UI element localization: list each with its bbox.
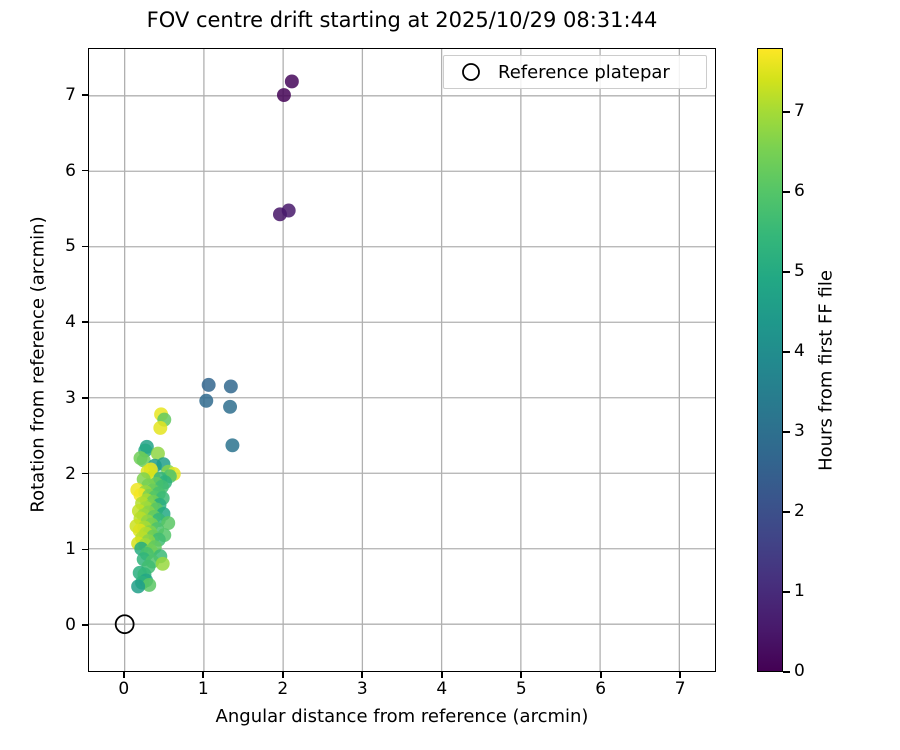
x-tick-label: 4 bbox=[422, 679, 462, 699]
x-tick-mark bbox=[361, 672, 363, 678]
scatter-point bbox=[285, 74, 299, 88]
colorbar-tick-label: 5 bbox=[794, 261, 805, 281]
chart-title: FOV centre drift starting at 2025/10/29 … bbox=[88, 8, 716, 32]
y-tick-mark bbox=[82, 170, 88, 172]
x-tick-label: 5 bbox=[501, 679, 541, 699]
scatter-point bbox=[156, 557, 170, 571]
x-tick-mark bbox=[679, 672, 681, 678]
colorbar-tick-mark bbox=[783, 271, 790, 272]
legend-entry-label: Reference platepar bbox=[498, 62, 670, 83]
x-tick-mark bbox=[202, 672, 204, 678]
x-axis-label: Angular distance from reference (arcmin) bbox=[88, 706, 716, 727]
x-tick-label: 3 bbox=[342, 679, 382, 699]
colorbar-tick-mark bbox=[783, 591, 790, 592]
x-tick-label: 2 bbox=[263, 679, 303, 699]
colorbar-tick-mark bbox=[783, 431, 790, 432]
legend-reference-marker-icon bbox=[444, 62, 498, 82]
scatter-point bbox=[282, 204, 296, 218]
colorbar-tick-label: 1 bbox=[794, 581, 805, 601]
y-tick-mark bbox=[82, 549, 88, 551]
colorbar-tick-label: 3 bbox=[794, 421, 805, 441]
x-tick-mark bbox=[600, 672, 602, 678]
colorbar-tick-label: 4 bbox=[794, 341, 805, 361]
colorbar-label: Hours from first FF file bbox=[816, 59, 837, 683]
colorbar-gradient bbox=[757, 48, 783, 672]
colorbar-tick-mark bbox=[783, 191, 790, 192]
y-tick-mark bbox=[82, 473, 88, 475]
plot-axes bbox=[88, 48, 716, 672]
legend-box[interactable]: Reference platepar bbox=[443, 55, 707, 89]
x-tick-label: 0 bbox=[104, 679, 144, 699]
colorbar-tick-mark bbox=[783, 511, 790, 512]
colorbar-tick-label: 6 bbox=[794, 181, 805, 201]
x-tick-label: 6 bbox=[581, 679, 621, 699]
colorbar-tick-mark bbox=[783, 111, 790, 112]
x-tick-label: 1 bbox=[183, 679, 223, 699]
y-axis-label: Rotation from reference (arcmin) bbox=[28, 53, 49, 677]
scatter-point bbox=[131, 579, 145, 593]
colorbar-tick-mark bbox=[783, 351, 790, 352]
colorbar-tick-label: 7 bbox=[794, 101, 805, 121]
y-tick-mark bbox=[82, 397, 88, 399]
colorbar bbox=[757, 48, 783, 672]
x-tick-label: 7 bbox=[660, 679, 700, 699]
y-tick-mark bbox=[82, 624, 88, 626]
x-tick-mark bbox=[441, 672, 443, 678]
scatter-point bbox=[202, 378, 216, 392]
scatter-point bbox=[199, 394, 213, 408]
scatter-plot-svg bbox=[89, 49, 715, 671]
x-tick-mark bbox=[282, 672, 284, 678]
scatter-point bbox=[277, 88, 291, 102]
y-tick-mark bbox=[82, 321, 88, 323]
colorbar-tick-label: 2 bbox=[794, 501, 805, 521]
figure-canvas: FOV centre drift starting at 2025/10/29 … bbox=[0, 0, 900, 750]
x-tick-mark bbox=[520, 672, 522, 678]
scatter-point bbox=[225, 438, 239, 452]
scatter-point bbox=[224, 379, 238, 393]
y-tick-mark bbox=[82, 94, 88, 96]
x-tick-mark bbox=[123, 672, 125, 678]
scatter-point bbox=[223, 400, 237, 414]
colorbar-tick-mark bbox=[783, 671, 790, 672]
y-tick-mark bbox=[82, 246, 88, 248]
scatter-point bbox=[153, 421, 167, 435]
colorbar-tick-label: 0 bbox=[794, 661, 805, 681]
